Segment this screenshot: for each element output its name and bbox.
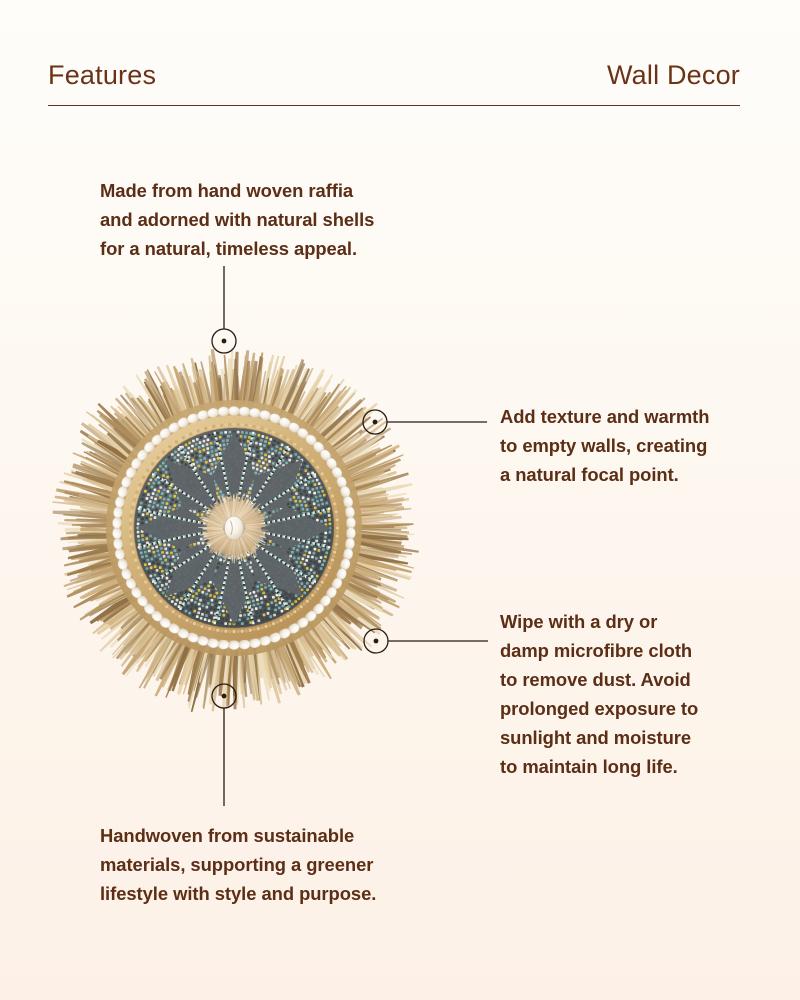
center-cowrie-shell [225, 516, 244, 540]
raffia-wall-decor-illustration [38, 338, 430, 730]
callout-material: Made from hand woven raffia and adorned … [100, 176, 445, 263]
callout-sustainability: Handwoven from sustainable materials, su… [100, 821, 450, 908]
product-category-title: Wall Decor [607, 58, 740, 92]
page-title: Features [48, 58, 156, 92]
product-image [38, 338, 430, 730]
callout-care: Wipe with a dry or damp microfibre cloth… [500, 607, 762, 781]
callout-styling: Add texture and warmth to empty walls, c… [500, 402, 758, 489]
page-header: Features Wall Decor [48, 58, 740, 106]
